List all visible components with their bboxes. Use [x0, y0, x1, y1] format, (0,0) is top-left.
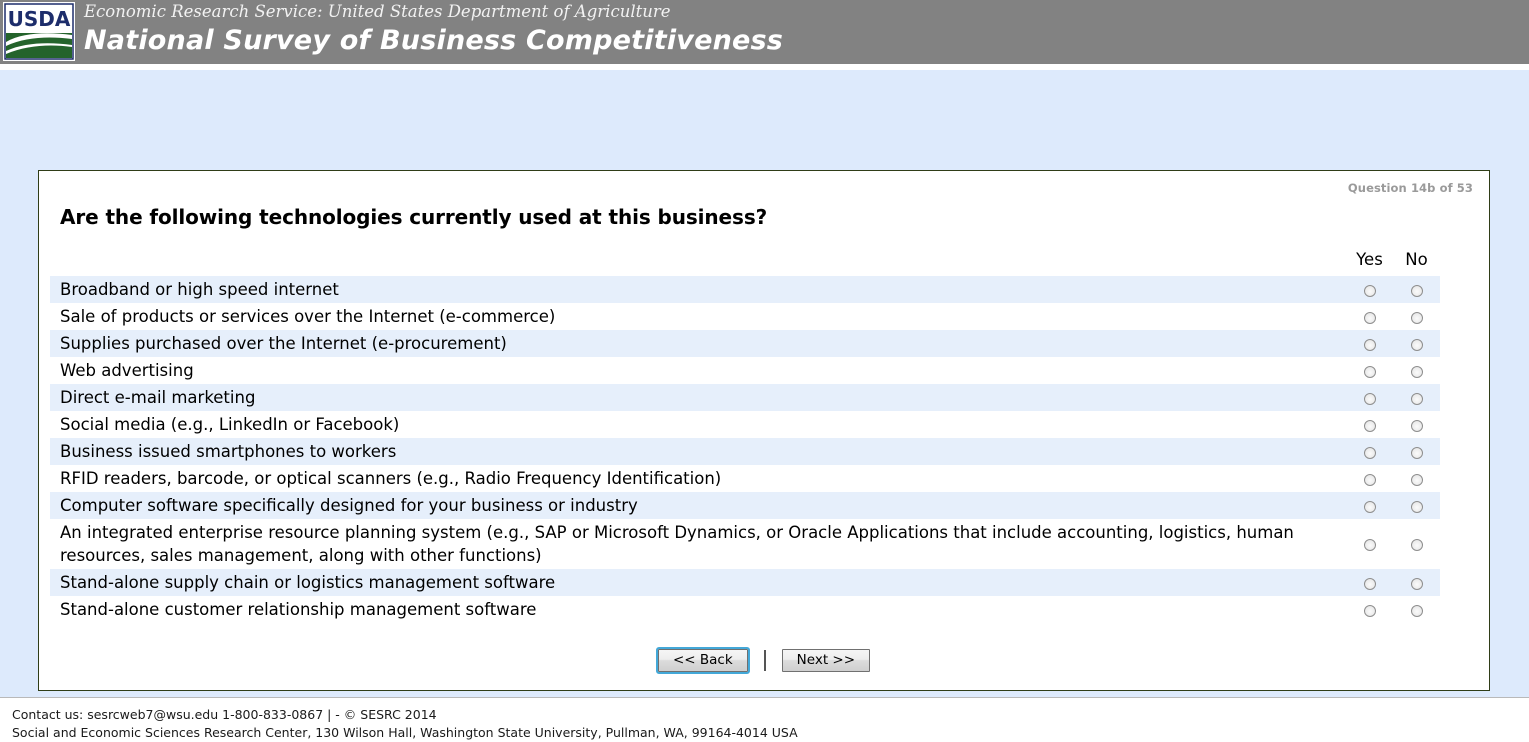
svg-text:USDA: USDA: [8, 7, 71, 31]
row-pad: [1440, 357, 1464, 384]
radio-no-icon[interactable]: [1411, 578, 1423, 590]
radio-no-icon[interactable]: [1411, 605, 1423, 617]
table-row: Business issued smartphones to workers: [50, 438, 1464, 465]
item-label: RFID readers, barcode, or optical scanne…: [50, 465, 1346, 492]
radio-cell-no[interactable]: [1393, 569, 1440, 596]
row-pad: [1440, 330, 1464, 357]
table-row: Computer software specifically designed …: [50, 492, 1464, 519]
radio-no-icon[interactable]: [1411, 539, 1423, 551]
row-pad: [1440, 438, 1464, 465]
item-label: Social media (e.g., LinkedIn or Facebook…: [50, 411, 1346, 438]
row-pad: [1440, 596, 1464, 623]
item-label: Web advertising: [50, 357, 1346, 384]
item-label: An integrated enterprise resource planni…: [50, 519, 1346, 569]
column-header-yes: Yes: [1346, 249, 1393, 276]
grid-header-row: Yes No: [50, 249, 1464, 276]
header-text-block: Economic Research Service: United States…: [84, 0, 783, 58]
radio-cell-yes[interactable]: [1346, 465, 1393, 492]
question-title: Are the following technologies currently…: [39, 195, 1489, 229]
radio-yes-icon[interactable]: [1364, 605, 1376, 617]
table-row: Sale of products or services over the In…: [50, 303, 1464, 330]
radio-cell-yes[interactable]: [1346, 596, 1393, 623]
radio-yes-icon[interactable]: [1364, 366, 1376, 378]
radio-yes-icon[interactable]: [1364, 420, 1376, 432]
radio-no-icon[interactable]: [1411, 393, 1423, 405]
survey-panel: Question 14b of 53 Are the following tec…: [38, 170, 1490, 691]
radio-cell-no[interactable]: [1393, 465, 1440, 492]
radio-cell-no[interactable]: [1393, 330, 1440, 357]
row-pad: [1440, 492, 1464, 519]
table-row: An integrated enterprise resource planni…: [50, 519, 1464, 569]
table-row: RFID readers, barcode, or optical scanne…: [50, 465, 1464, 492]
question-grid-wrap: Yes No Broadband or high speed internetS…: [39, 249, 1489, 623]
radio-yes-icon[interactable]: [1364, 578, 1376, 590]
row-pad: [1440, 276, 1464, 303]
nav-divider: [764, 650, 766, 671]
item-label: Computer software specifically designed …: [50, 492, 1346, 519]
label-column-header: [50, 249, 1346, 276]
radio-cell-yes[interactable]: [1346, 438, 1393, 465]
column-header-no: No: [1393, 249, 1440, 276]
radio-yes-icon[interactable]: [1364, 539, 1376, 551]
question-counter: Question 14b of 53: [39, 181, 1489, 195]
row-pad: [1440, 465, 1464, 492]
table-row: Stand-alone supply chain or logistics ma…: [50, 569, 1464, 596]
item-label: Sale of products or services over the In…: [50, 303, 1346, 330]
radio-cell-no[interactable]: [1393, 276, 1440, 303]
radio-yes-icon[interactable]: [1364, 474, 1376, 486]
radio-cell-no[interactable]: [1393, 596, 1440, 623]
item-label: Stand-alone supply chain or logistics ma…: [50, 569, 1346, 596]
navigation-bar: << Back Next >>: [39, 623, 1489, 690]
item-label: Supplies purchased over the Internet (e-…: [50, 330, 1346, 357]
table-row: Stand-alone customer relationship manage…: [50, 596, 1464, 623]
radio-cell-no[interactable]: [1393, 303, 1440, 330]
site-header: USDA Economic Research Service: United S…: [0, 0, 1529, 64]
table-row: Broadband or high speed internet: [50, 276, 1464, 303]
radio-no-icon[interactable]: [1411, 339, 1423, 351]
site-footer: Contact us: sesrcweb7@wsu.edu 1-800-833-…: [0, 698, 1529, 737]
survey-title: National Survey of Business Competitiven…: [84, 24, 783, 58]
row-pad: [1440, 411, 1464, 438]
radio-cell-yes[interactable]: [1346, 303, 1393, 330]
technologies-grid: Yes No Broadband or high speed internetS…: [50, 249, 1464, 623]
page-body: Question 14b of 53 Are the following tec…: [0, 70, 1529, 697]
usda-logo: USDA: [3, 2, 75, 61]
technologies-grid-body: Broadband or high speed internetSale of …: [50, 276, 1464, 623]
radio-yes-icon[interactable]: [1364, 393, 1376, 405]
radio-cell-no[interactable]: [1393, 519, 1440, 569]
table-row: Social media (e.g., LinkedIn or Facebook…: [50, 411, 1464, 438]
radio-cell-no[interactable]: [1393, 384, 1440, 411]
radio-no-icon[interactable]: [1411, 474, 1423, 486]
item-label: Broadband or high speed internet: [50, 276, 1346, 303]
radio-yes-icon[interactable]: [1364, 501, 1376, 513]
radio-no-icon[interactable]: [1411, 285, 1423, 297]
radio-yes-icon[interactable]: [1364, 447, 1376, 459]
radio-cell-yes[interactable]: [1346, 519, 1393, 569]
radio-no-icon[interactable]: [1411, 501, 1423, 513]
item-label: Direct e-mail marketing: [50, 384, 1346, 411]
row-pad: [1440, 303, 1464, 330]
radio-yes-icon[interactable]: [1364, 312, 1376, 324]
radio-no-icon[interactable]: [1411, 420, 1423, 432]
back-button[interactable]: << Back: [658, 649, 748, 672]
radio-no-icon[interactable]: [1411, 366, 1423, 378]
footer-address-line: Social and Economic Sciences Research Ce…: [12, 724, 1529, 742]
agency-line: Economic Research Service: United States…: [84, 1, 783, 23]
row-pad: [1440, 384, 1464, 411]
radio-cell-yes[interactable]: [1346, 384, 1393, 411]
radio-cell-no[interactable]: [1393, 411, 1440, 438]
row-pad: [1440, 519, 1464, 569]
radio-cell-yes[interactable]: [1346, 330, 1393, 357]
radio-cell-yes[interactable]: [1346, 411, 1393, 438]
radio-cell-no[interactable]: [1393, 492, 1440, 519]
radio-cell-yes[interactable]: [1346, 357, 1393, 384]
radio-yes-icon[interactable]: [1364, 339, 1376, 351]
table-row: Supplies purchased over the Internet (e-…: [50, 330, 1464, 357]
radio-cell-yes[interactable]: [1346, 492, 1393, 519]
radio-cell-no[interactable]: [1393, 357, 1440, 384]
radio-no-icon[interactable]: [1411, 447, 1423, 459]
radio-cell-yes[interactable]: [1346, 276, 1393, 303]
table-row: Direct e-mail marketing: [50, 384, 1464, 411]
item-label: Business issued smartphones to workers: [50, 438, 1346, 465]
table-row: Web advertising: [50, 357, 1464, 384]
pad-column-header: [1440, 249, 1464, 276]
footer-contact-line: Contact us: sesrcweb7@wsu.edu 1-800-833-…: [12, 706, 1529, 724]
radio-yes-icon[interactable]: [1364, 285, 1376, 297]
item-label: Stand-alone customer relationship manage…: [50, 596, 1346, 623]
radio-cell-yes[interactable]: [1346, 569, 1393, 596]
radio-cell-no[interactable]: [1393, 438, 1440, 465]
next-button[interactable]: Next >>: [782, 649, 870, 672]
row-pad: [1440, 569, 1464, 596]
radio-no-icon[interactable]: [1411, 312, 1423, 324]
